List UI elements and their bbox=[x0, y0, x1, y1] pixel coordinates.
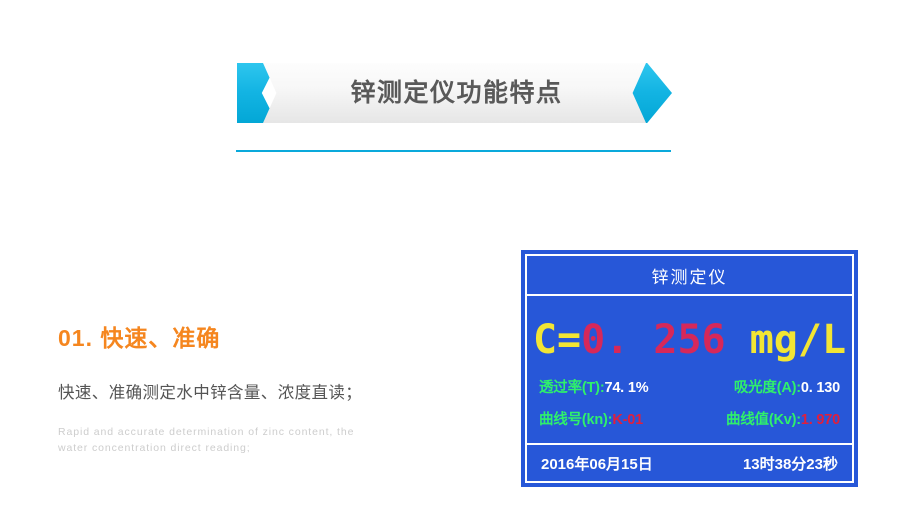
metric-label: 透过率(T): bbox=[539, 380, 604, 396]
metric-label: 曲线值(Kv): bbox=[726, 412, 801, 428]
feature-description: 快速、准确测定水中锌含量、浓度直读； bbox=[58, 381, 418, 407]
metric-label: 吸光度(A): bbox=[734, 380, 801, 396]
reading-unit: mg/L bbox=[726, 317, 846, 363]
concentration-reading-row: C=0. 256 mg/L bbox=[527, 296, 852, 376]
device-screen: 锌测定仪 C=0. 256 mg/L 透过率(T):74. 1% 吸光度(A):… bbox=[521, 250, 858, 487]
device-title-bar: 锌测定仪 bbox=[527, 256, 852, 296]
feature-caption-english: Rapid and accurate determination of zinc… bbox=[58, 424, 378, 457]
reading-prefix: C= bbox=[533, 317, 581, 363]
device-date: 2016年06月15日 bbox=[541, 453, 653, 474]
reading-value: 0. 256 bbox=[581, 317, 726, 363]
metric-row: 曲线号(kn):K-01 曲线值(Kv):1. 970 bbox=[539, 408, 840, 429]
metric-value: 0. 130 bbox=[801, 380, 840, 396]
metric-curve-number: 曲线号(kn):K-01 bbox=[539, 408, 643, 429]
metric-transmittance: 透过率(T):74. 1% bbox=[539, 376, 648, 397]
metric-value: 1. 970 bbox=[801, 412, 840, 428]
page-title: 锌测定仪功能特点 bbox=[346, 81, 562, 106]
device-status-bar: 2016年06月15日 13时38分23秒 bbox=[527, 445, 852, 481]
device-metrics: 透过率(T):74. 1% 吸光度(A):0. 130 曲线号(kn):K-01… bbox=[527, 376, 852, 443]
title-banner: 锌测定仪功能特点 bbox=[237, 63, 672, 123]
banner-center-plate: 锌测定仪功能特点 bbox=[263, 63, 646, 123]
feature-heading: 01. 快速、准确 bbox=[58, 325, 418, 353]
device-screen-inner: 锌测定仪 C=0. 256 mg/L 透过率(T):74. 1% 吸光度(A):… bbox=[525, 254, 854, 483]
section-divider bbox=[236, 150, 671, 152]
metric-absorbance: 吸光度(A):0. 130 bbox=[734, 376, 840, 397]
metric-value: K-01 bbox=[612, 412, 643, 428]
metric-row: 透过率(T):74. 1% 吸光度(A):0. 130 bbox=[539, 376, 840, 397]
metric-curve-value: 曲线值(Kv):1. 970 bbox=[726, 408, 840, 429]
device-title: 锌测定仪 bbox=[652, 263, 728, 288]
metric-label: 曲线号(kn): bbox=[539, 412, 612, 428]
feature-block: 01. 快速、准确 快速、准确测定水中锌含量、浓度直读； Rapid and a… bbox=[58, 325, 418, 457]
metric-value: 74. 1% bbox=[604, 380, 648, 396]
device-main-area: C=0. 256 mg/L 透过率(T):74. 1% 吸光度(A):0. 13… bbox=[527, 296, 852, 445]
device-time: 13时38分23秒 bbox=[743, 453, 838, 474]
concentration-reading: C=0. 256 mg/L bbox=[533, 320, 846, 360]
